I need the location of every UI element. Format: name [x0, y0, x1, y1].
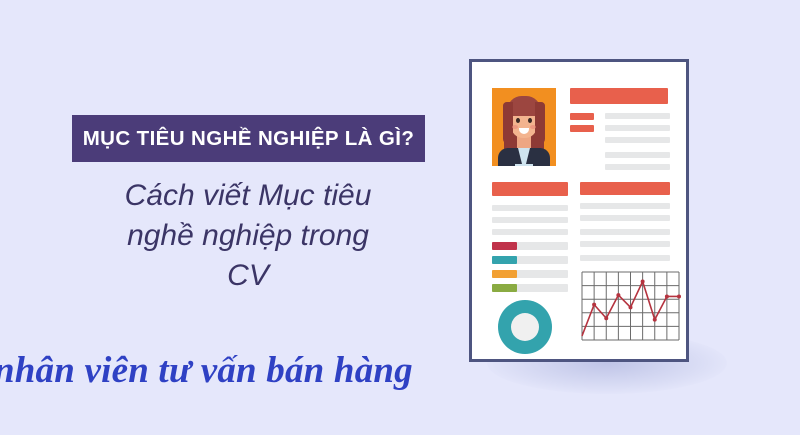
avatar-eye-right	[528, 118, 532, 123]
skill-fill-1	[492, 242, 517, 250]
header-title-bar	[570, 88, 668, 104]
donut-chart-hole	[511, 313, 539, 341]
left-line-2	[492, 217, 568, 223]
avatar-eye-left	[516, 118, 520, 123]
right-section-title-bar	[580, 182, 670, 195]
avatar-cheek-right	[530, 125, 536, 129]
right-line-4	[580, 241, 670, 247]
skill-fill-3	[492, 270, 517, 278]
avatar-photo	[492, 88, 556, 166]
left-line-1	[492, 205, 568, 211]
header-tag-bar-1	[570, 113, 594, 120]
poster-canvas: MỤC TIÊU NGHỀ NGHIỆP LÀ GÌ? Cách viết Mụ…	[0, 0, 800, 435]
left-section-title-bar	[492, 182, 568, 196]
header-line-2	[605, 125, 670, 131]
headline-badge: MỤC TIÊU NGHỀ NGHIỆP LÀ GÌ?	[72, 115, 425, 162]
subtitle-line-2: nghề nghiệp trong	[58, 216, 438, 256]
footer-headline: nhân viên tư vấn bán hàng	[0, 349, 514, 392]
avatar-hair-right	[535, 102, 545, 144]
skill-fill-4	[492, 284, 517, 292]
header-line-1	[605, 113, 670, 119]
subtitle-line-3: CV	[58, 256, 438, 296]
donut-chart	[498, 300, 552, 354]
right-line-2	[580, 215, 670, 221]
right-line-1	[580, 203, 670, 209]
subtitle-block: Cách viết Mục tiêu nghề nghiệp trong CV	[58, 176, 438, 296]
avatar-hair-left	[503, 102, 513, 144]
header-line-4	[605, 152, 670, 158]
header-line-5	[605, 164, 670, 170]
header-line-3	[605, 137, 670, 143]
cv-document	[469, 59, 689, 362]
skill-fill-2	[492, 256, 517, 264]
line-chart-svg	[580, 270, 681, 342]
avatar-cheek-left	[512, 125, 518, 129]
left-line-3	[492, 229, 568, 235]
header-tag-bar-2	[570, 125, 594, 132]
line-chart	[580, 270, 681, 342]
right-line-5	[580, 255, 670, 261]
subtitle-line-1: Cách viết Mục tiêu	[58, 176, 438, 216]
right-line-3	[580, 229, 670, 235]
headline-badge-label: MỤC TIÊU NGHỀ NGHIỆP LÀ GÌ?	[83, 127, 415, 151]
